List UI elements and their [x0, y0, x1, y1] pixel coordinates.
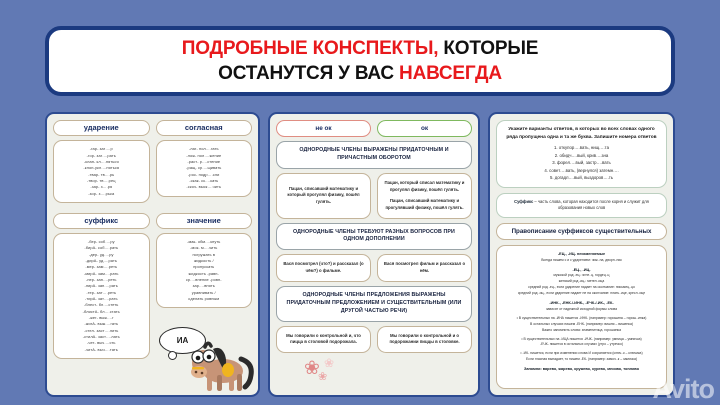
list-item: -зор- з….рька: [58, 191, 145, 197]
example-pair-1: Вася посмотрел (что?) и рассказал (о чём…: [276, 254, 472, 281]
example-text: Пацан, списавший математику и прогулявши…: [383, 198, 466, 211]
rule-line: -ЕЦ-, -ИЦ-: [502, 267, 661, 274]
task-list: 1. откупор….вать, нищ….та 2. обидч….вый,…: [503, 144, 660, 182]
rule-title-0: ОДНОРОДНЫЕ ЧЛЕНЫ ВЫРАЖЕНЫ ПРИДАТОЧНЫМ И …: [276, 141, 472, 169]
list-item: 5. догадл….вый, выздоров….ть: [503, 174, 660, 182]
rule-line: • В существительных на -ИНА пишется -ИНК…: [502, 316, 661, 322]
left-cell-title-1: согласная: [156, 120, 253, 136]
list-item: сделать ровным: [161, 296, 248, 302]
right-stack: Укажите варианты ответов, в которых во в…: [496, 120, 667, 389]
task-title: Укажите варианты ответов, в которых во в…: [503, 126, 660, 141]
flower-icon: ❀: [324, 357, 334, 369]
header-banner: ПОДРОБНЫЕ КОНСПЕКТЫ, КОТОРЫЕ ОСТАНУТСЯ У…: [45, 26, 675, 96]
rule-title-1: ОДНОРОДНЫЕ ЧЛЕНЫ ТРЕБУЮТ РАЗНЫХ ВОПРОСОВ…: [276, 223, 472, 251]
rule-line: Запомни: варево, жарево, кружево, курево…: [502, 366, 661, 373]
left-cell-suffiks: суффикс -бер- соб….ру -бирА- соб….рать -…: [53, 213, 150, 359]
left-cell-list-1: -лаг- пол….гать -лож- пол….жение -раст- …: [156, 140, 253, 196]
tab-not-ok[interactable]: не ок: [276, 120, 371, 137]
example-bad-2: Мы говорили о контрольной и, что пицца в…: [276, 326, 371, 353]
compare-tabs: не ок ок: [276, 120, 472, 137]
task-card: Укажите варианты ответов, в которых во в…: [496, 120, 667, 188]
panel-roots-alternation: ударение -гар- заг….р -гор- заг….рать -к…: [45, 112, 260, 397]
left-cell-list-0: -гар- заг….р -гор- заг….рать -клан- кл….…: [53, 140, 150, 203]
rule-line: -ИНК-, -ЕНК-/-ИНК-, -ЕЧК-/-ИК-, -ЕК-: [502, 300, 661, 307]
flower-decoration: ❀ ❀ ❀: [276, 357, 472, 389]
example-pair-0: Пацан, списавший математику и который пр…: [276, 173, 472, 219]
rule-line: средний род -иц-, если ударение падает н…: [502, 291, 661, 297]
definition-text: – часть слова, которая находится после к…: [533, 199, 649, 211]
list-item: 1. откупор….вать, нищ….та: [503, 144, 660, 152]
suffix-rules-body: -ЕЦ-, -ИЦ- неизменяемые Всегда пишем с и…: [496, 245, 667, 389]
tab-ok[interactable]: ок: [377, 120, 472, 137]
example-text: Вася посмотрел (что?) и рассказал (о чём…: [282, 261, 365, 274]
definition-card: Суффикс – часть слова, которая находится…: [496, 193, 667, 218]
left-cell-list-2: -бер- соб….ру -бирА- соб….рать -дер- уд……: [53, 233, 150, 359]
header-text-black-1: КОТОРЫЕ: [438, 38, 538, 59]
definition-term: Суффикс: [514, 199, 533, 204]
example-ok-2: Мы говорили о контрольной и о подорожани…: [377, 326, 472, 353]
example-text: Мы говорили о контрольной и о подорожани…: [383, 333, 466, 346]
list-item: 3. форел….вый, застр….вать: [503, 159, 660, 167]
list-item: -скоч- выск….чить: [161, 184, 248, 190]
list-item: -читА- выч….тать: [58, 347, 145, 353]
example-ok-0: Пацан, который списал математику и прогу…: [377, 173, 472, 219]
panel-suffixes: Укажите варианты ответов, в которых во в…: [488, 112, 675, 397]
list-item: 4. совет….вать, (вернулся) затемн….: [503, 167, 660, 175]
example-text: Пацан, списавший математику и который пр…: [282, 186, 365, 206]
left-cell-udarenie: ударение -гар- заг….р -гор- заг….рать -к…: [53, 120, 150, 203]
example-text: Вася посмотрел фильм и рассказал о нём.: [383, 261, 466, 274]
header-line-1: ПОДРОБНЫЕ КОНСПЕКТЫ, КОТОРЫЕ: [182, 38, 538, 60]
example-text: Пацан, который списал математику и прогу…: [383, 180, 466, 193]
horse-icon: [183, 341, 260, 393]
flower-icon: ❀: [318, 372, 327, 383]
list-item: 2. обидч….вый, крив….зна: [503, 152, 660, 160]
left-cell-title-0: ударение: [53, 120, 150, 136]
rule-title-2: ОДНОРОДНЫЕ ЧЛЕНЫ ПРЕДЛОЖЕНИЯ ВЫРАЖЕНЫ ПР…: [276, 286, 472, 322]
example-bad-0: Пацан, списавший математику и который пр…: [276, 173, 371, 219]
left-cell-list-3: -мак- обм….кнуть -мок- м….чить погружать…: [156, 233, 253, 308]
panel-homogeneous-members: не ок ок ОДНОРОДНЫЕ ЧЛЕНЫ ВЫРАЖЕНЫ ПРИДА…: [268, 112, 480, 397]
example-ok-1: Вася посмотрел фильм и рассказал о нём.: [377, 254, 472, 281]
header-text-black-2: ОСТАНУТСЯ У ВАС: [218, 63, 399, 84]
rule-line: -ЕЦ-, -ИЦ- неизменяемые: [502, 251, 661, 258]
donkey-illustration: ИА: [159, 321, 259, 393]
left-cell-soglasnaya: согласная -лаг- пол….гать -лож- пол….жен…: [156, 120, 253, 203]
section-title-suffix-spelling: Правописание суффиксов существительных: [496, 223, 667, 240]
panels-container: ударение -гар- заг….р -гор- заг….рать -к…: [45, 112, 675, 397]
example-bad-1: Вася посмотрел (что?) и рассказал (о чём…: [276, 254, 371, 281]
middle-stack: не ок ок ОДНОРОДНЫЕ ЧЛЕНЫ ВЫРАЖЕНЫ ПРИДА…: [276, 120, 472, 389]
example-text: Мы говорили о контрольной и, что пицца в…: [282, 333, 365, 346]
left-cell-title-3: значение: [156, 213, 253, 229]
header-text-red-1: ПОДРОБНЫЕ КОНСПЕКТЫ,: [182, 38, 439, 59]
header-text-red-2: НАВСЕГДА: [399, 63, 502, 84]
example-pair-2: Мы говорили о контрольной и, что пицца в…: [276, 326, 472, 353]
header-line-2: ОСТАНУТСЯ У ВАС НАВСЕГДА: [218, 63, 502, 85]
left-cell-title-2: суффикс: [53, 213, 150, 229]
